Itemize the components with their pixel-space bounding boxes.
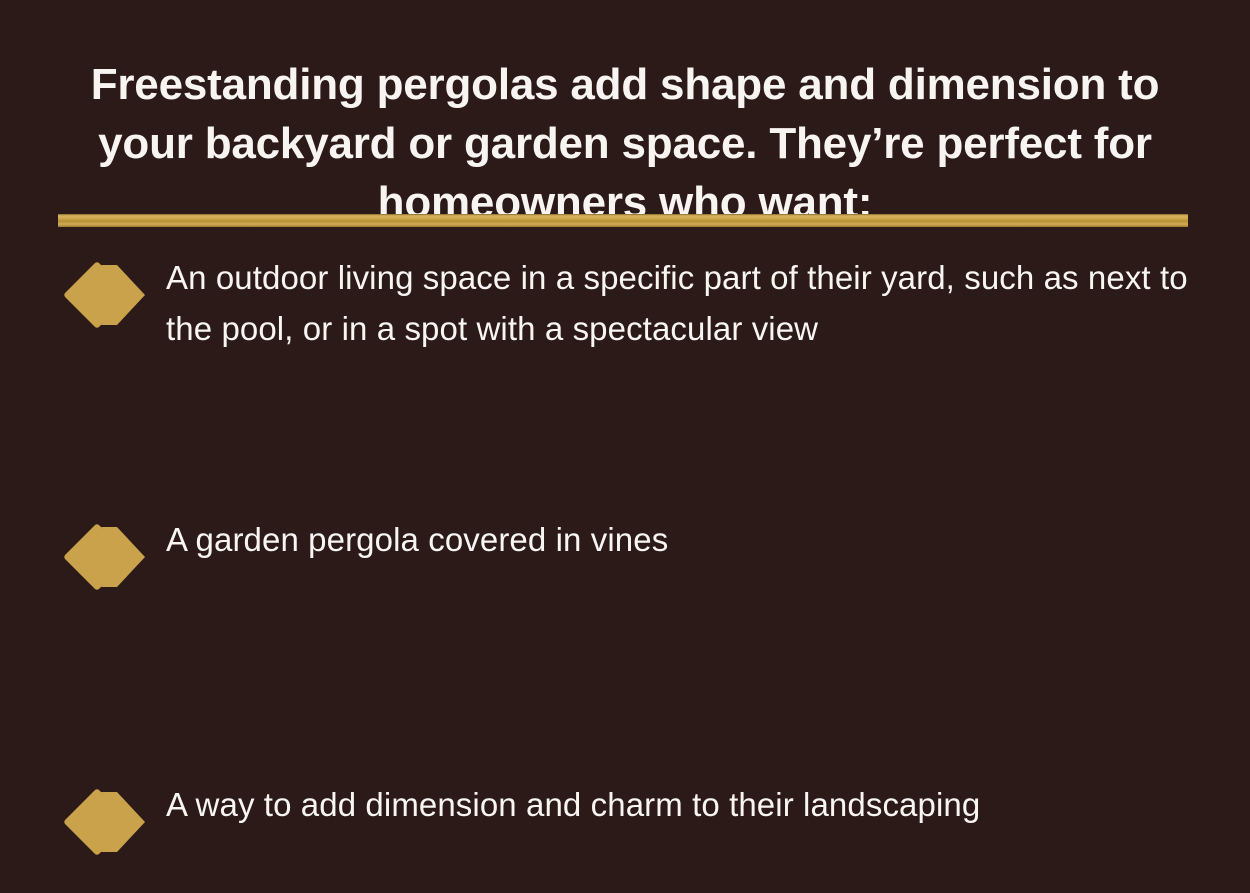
double-diamond-icon [60, 522, 146, 592]
list-item-label: An outdoor living space in a specific pa… [166, 252, 1192, 354]
list-item: A garden pergola covered in vines [0, 514, 1250, 592]
list-item: A way to add dimension and charm to thei… [0, 779, 1250, 857]
double-diamond-icon [60, 787, 146, 857]
list-item: An outdoor living space in a specific pa… [0, 252, 1250, 354]
slide-canvas: Freestanding pergolas add shape and dime… [0, 0, 1250, 893]
double-diamond-icon [60, 260, 146, 330]
gold-divider [58, 214, 1188, 227]
list-item-label: A way to add dimension and charm to thei… [166, 779, 1192, 830]
page-title: Freestanding pergolas add shape and dime… [58, 55, 1192, 232]
list-item-label: A garden pergola covered in vines [166, 514, 1192, 565]
